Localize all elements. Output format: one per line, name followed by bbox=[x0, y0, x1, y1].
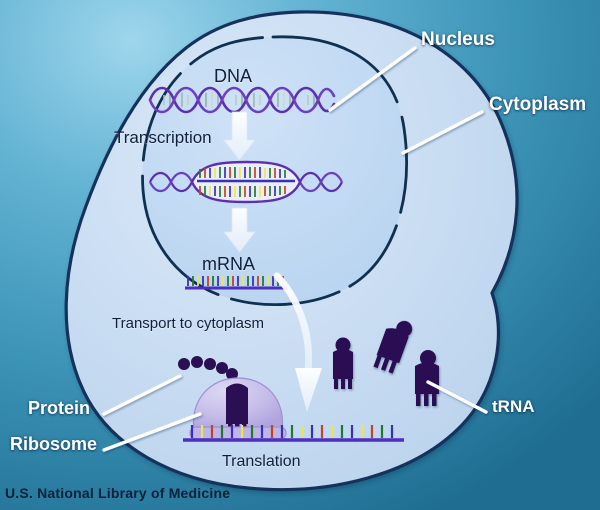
label-dna: DNA bbox=[214, 67, 252, 85]
diagram-canvas: Nucleus Cytoplasm tRNA Protein Ribosome … bbox=[0, 0, 600, 510]
label-trna: tRNA bbox=[492, 398, 535, 415]
label-cytoplasm: Cytoplasm bbox=[489, 95, 586, 114]
credit-line: U.S. National Library of Medicine bbox=[5, 486, 230, 500]
label-protein: Protein bbox=[28, 399, 90, 417]
label-mrna: mRNA bbox=[202, 255, 255, 273]
label-transport-to-cytoplasm: Transport to cytoplasm bbox=[112, 316, 264, 331]
label-transcription: Transcription bbox=[114, 129, 212, 146]
trna-molecule bbox=[333, 338, 353, 390]
label-translation: Translation bbox=[222, 454, 301, 470]
label-ribosome: Ribosome bbox=[10, 435, 97, 453]
label-nucleus: Nucleus bbox=[421, 30, 495, 49]
